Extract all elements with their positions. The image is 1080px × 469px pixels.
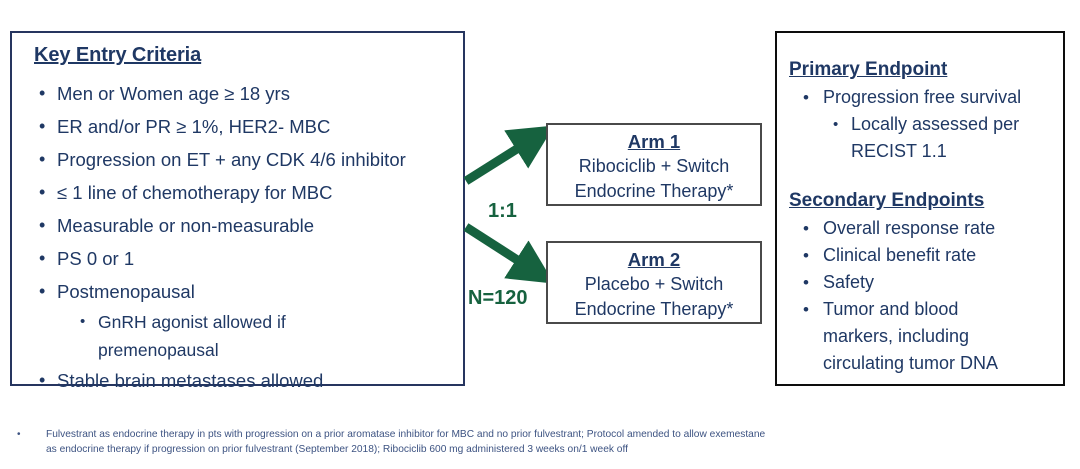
endpoints-box: Primary Endpoint •Progression free survi… bbox=[775, 31, 1065, 386]
footnote-line-1: Fulvestrant as endocrine therapy in pts … bbox=[12, 428, 1072, 443]
footnote: • Fulvestrant as endocrine therapy in pt… bbox=[12, 428, 1072, 457]
bullet-icon: • bbox=[80, 308, 85, 336]
criteria-item: •Measurable or non-measurable bbox=[32, 209, 457, 242]
primary-endpoint-subitem-continuation: RECIST 1.1 bbox=[789, 138, 1057, 165]
arm-2-line-2: Endocrine Therapy* bbox=[548, 297, 760, 322]
arm-2-box: Arm 2 Placebo + Switch Endocrine Therapy… bbox=[546, 241, 762, 324]
criteria-item: •Postmenopausal bbox=[32, 275, 457, 308]
criteria-subitem-continuation: premenopausal bbox=[32, 336, 457, 364]
bullet-icon: • bbox=[803, 269, 809, 296]
criteria-item: •≤ 1 line of chemotherapy for MBC bbox=[32, 176, 457, 209]
secondary-endpoint-item: •Overall response rate bbox=[789, 215, 1057, 242]
criteria-item: •ER and/or PR ≥ 1%, HER2- MBC bbox=[32, 110, 457, 143]
bullet-icon: • bbox=[803, 242, 809, 269]
greater-equal-icon: ≥ bbox=[176, 116, 186, 137]
footnote-line-2: as endocrine therapy if progression on p… bbox=[12, 443, 1072, 458]
primary-endpoint-subitem: •Locally assessed per bbox=[789, 111, 1057, 138]
key-entry-criteria-list: •Men or Women age ≥ 18 yrs •ER and/or PR… bbox=[32, 77, 457, 397]
arm-2-line-1: Placebo + Switch bbox=[548, 272, 760, 297]
bullet-icon: • bbox=[39, 242, 45, 275]
greater-equal-icon: ≥ bbox=[224, 83, 234, 104]
arm-1-box: Arm 1 Ribociclib + Switch Endocrine Ther… bbox=[546, 123, 762, 206]
less-equal-icon: ≤ bbox=[57, 182, 67, 203]
randomization-ratio-label: 1:1 bbox=[488, 200, 517, 223]
bullet-icon: • bbox=[17, 428, 21, 443]
bullet-icon: • bbox=[39, 77, 45, 110]
arm-1-title: Arm 1 bbox=[548, 130, 760, 154]
arm-1-line-2: Endocrine Therapy* bbox=[548, 179, 760, 204]
bullet-icon: • bbox=[39, 110, 45, 143]
bullet-icon: • bbox=[803, 84, 809, 111]
arrow-to-arm2 bbox=[466, 227, 536, 272]
bullet-icon: • bbox=[833, 111, 838, 138]
secondary-endpoint-item-continuation: markers, including bbox=[789, 323, 1057, 350]
bullet-icon: • bbox=[39, 209, 45, 242]
key-entry-criteria-box: Key Entry Criteria •Men or Women age ≥ 1… bbox=[10, 31, 465, 386]
trial-schema-diagram: Key Entry Criteria •Men or Women age ≥ 1… bbox=[0, 0, 1080, 469]
criteria-item: •Men or Women age ≥ 18 yrs bbox=[32, 77, 457, 110]
arm-1-line-1: Ribociclib + Switch bbox=[548, 154, 760, 179]
bullet-icon: • bbox=[39, 275, 45, 308]
arrow-to-arm1 bbox=[466, 137, 536, 181]
secondary-endpoint-item: •Safety bbox=[789, 269, 1057, 296]
secondary-endpoint-item: •Clinical benefit rate bbox=[789, 242, 1057, 269]
bullet-icon: • bbox=[39, 143, 45, 176]
criteria-item: •Stable brain metastases allowed bbox=[32, 364, 457, 397]
bullet-icon: • bbox=[803, 296, 809, 323]
criteria-subitem: •GnRH agonist allowed if bbox=[32, 308, 457, 336]
arm-2-title: Arm 2 bbox=[548, 248, 760, 272]
endpoints-content: Primary Endpoint •Progression free survi… bbox=[789, 56, 1057, 377]
bullet-icon: • bbox=[803, 215, 809, 242]
primary-endpoint-item: •Progression free survival bbox=[789, 84, 1057, 111]
criteria-item: •PS 0 or 1 bbox=[32, 242, 457, 275]
secondary-endpoints-heading: Secondary Endpoints bbox=[789, 187, 1057, 215]
bullet-icon: • bbox=[39, 176, 45, 209]
secondary-endpoint-item: •Tumor and blood bbox=[789, 296, 1057, 323]
primary-endpoint-heading: Primary Endpoint bbox=[789, 56, 1057, 84]
bullet-icon: • bbox=[39, 364, 45, 397]
criteria-item: •Progression on ET + any CDK 4/6 inhibit… bbox=[32, 143, 457, 176]
secondary-endpoint-item-continuation: circulating tumor DNA bbox=[789, 350, 1057, 377]
enrollment-count-label: N=120 bbox=[468, 287, 528, 310]
key-entry-criteria-title: Key Entry Criteria bbox=[34, 44, 201, 67]
